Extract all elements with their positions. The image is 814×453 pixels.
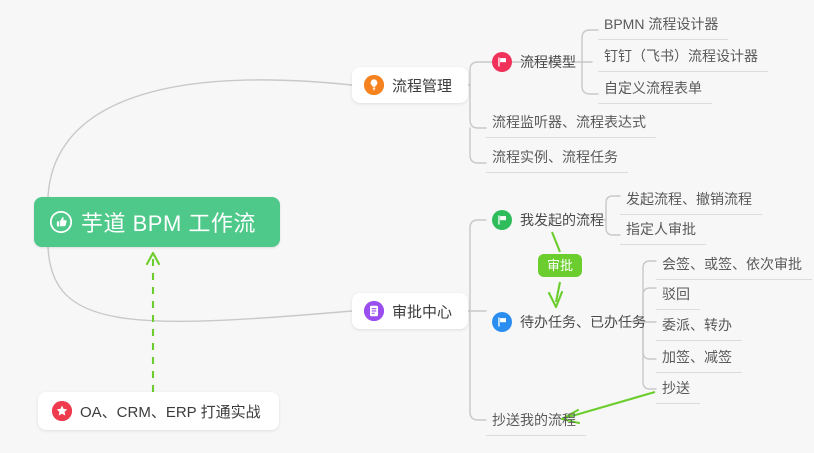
node-my-initiated-label: 我发起的流程 [520,210,604,230]
link-root-to-process-management [48,80,352,197]
link-mine-assignee [606,220,620,235]
flag-green-icon [492,210,512,230]
root-label: 芋道 BPM 工作流 [81,206,256,238]
link-model-form [582,62,598,94]
flag-red-icon [492,52,512,72]
link-mine-start [606,196,620,220]
node-integration-label: OA、CRM、ERP 打通实战 [80,401,261,422]
doc-icon [364,301,384,321]
bulb-icon [364,75,384,95]
leaf-delegate-transfer[interactable]: 委派、转办 [656,312,742,341]
node-process-management-label: 流程管理 [392,75,452,96]
thumbs-up-icon [50,211,72,233]
leaf-dingtalk-feishu-designer[interactable]: 钉钉（飞书）流程设计器 [598,43,768,72]
node-approval-center[interactable]: 审批中心 [352,293,468,329]
link-pm-branch-inst [470,128,486,163]
node-integration[interactable]: OA、CRM、ERP 打通实战 [38,392,279,430]
leaf-add-remove-sign[interactable]: 加签、减签 [656,344,742,373]
leaf-cc-to-me[interactable]: 抄送我的流程 [486,407,586,436]
leaf-reject[interactable]: 驳回 [656,281,700,310]
leaf-start-cancel-process[interactable]: 发起流程、撤销流程 [620,186,762,215]
flag-blue-icon [492,312,512,332]
leaf-process-listener[interactable]: 流程监听器、流程表达式 [486,109,656,138]
tag-approval[interactable]: 审批 [538,254,582,277]
root-node[interactable]: 芋道 BPM 工作流 [34,197,280,247]
leaf-assignee-approval[interactable]: 指定人审批 [620,216,706,245]
leaf-countersign[interactable]: 会签、或签、依次审批 [656,251,812,280]
link-model-bpmn [582,30,598,62]
leaf-process-instance[interactable]: 流程实例、流程任务 [486,144,628,173]
mindmap-canvas: 芋道 BPM 工作流 OA、CRM、ERP 打通实战 流程管理 [0,0,814,453]
node-process-management[interactable]: 流程管理 [352,67,468,103]
node-process-model[interactable]: 流程模型 [492,50,576,74]
link-pm-branch-listen [470,85,486,128]
node-todo-done-tasks[interactable]: 待办任务、已办任务 [492,310,646,334]
link-root-to-approval-center [48,247,352,321]
star-icon [52,401,72,421]
link-ac-branch-mine [470,220,486,311]
node-approval-center-label: 审批中心 [392,301,452,322]
node-my-initiated[interactable]: 我发起的流程 [492,208,604,232]
link-integration-to-root [147,253,159,392]
link-ac-branch-cc [470,311,486,420]
leaf-bpmn-designer[interactable]: BPMN 流程设计器 [598,11,728,40]
leaf-carbon-copy[interactable]: 抄送 [656,375,700,404]
leaf-custom-process-form[interactable]: 自定义流程表单 [598,75,712,104]
node-process-model-label: 流程模型 [520,52,576,72]
node-todo-done-tasks-label: 待办任务、已办任务 [520,312,646,332]
